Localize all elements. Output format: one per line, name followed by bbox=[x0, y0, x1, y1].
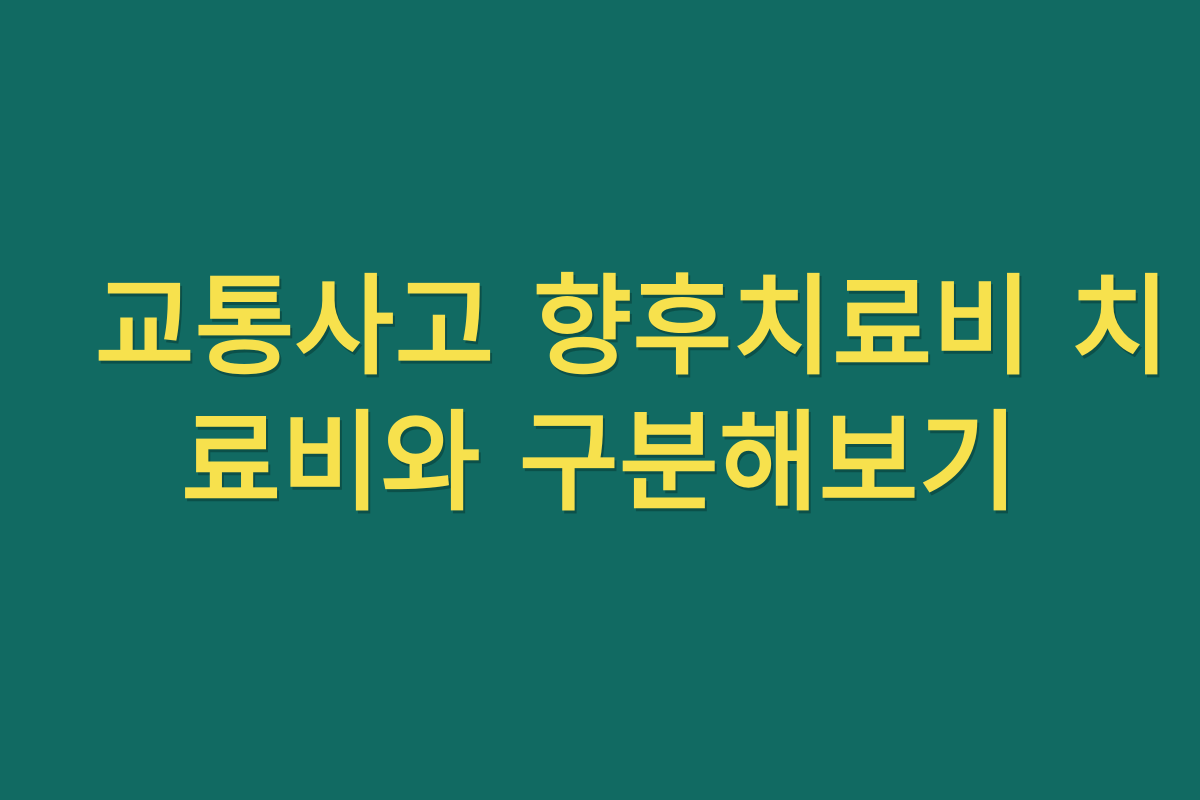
title-banner: 교통사고 향후치료비 치 료비와 구분해보기 bbox=[0, 0, 1200, 800]
headline-line-2: 료비와 구분해보기 bbox=[95, 396, 1105, 532]
headline-block: 교통사고 향후치료비 치 료비와 구분해보기 bbox=[95, 260, 1105, 532]
headline-line-1: 교통사고 향후치료비 치 bbox=[95, 260, 1105, 396]
